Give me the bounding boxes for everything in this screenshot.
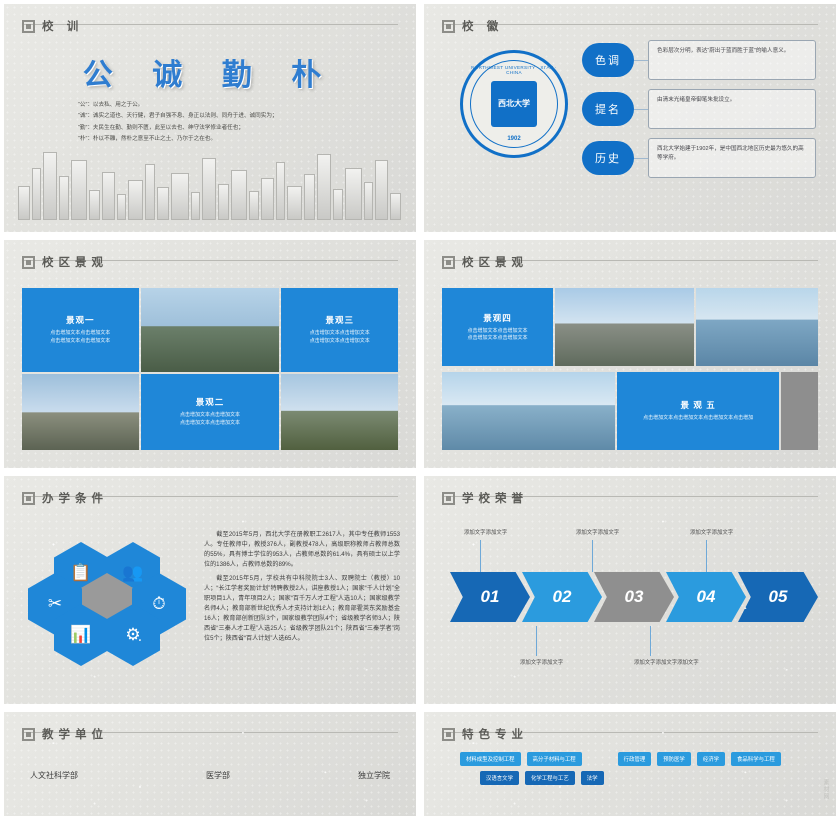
title-marker-icon (442, 728, 455, 741)
section-title-text: 校区景观 (462, 254, 528, 270)
emblem-ring-text: NORTHWEST UNIVERSITY · XI'AN · CHINA (471, 65, 557, 75)
section-title-text: 办学条件 (42, 490, 108, 506)
callout-stem (536, 626, 537, 656)
watermark: 素材网 (821, 779, 830, 800)
skyline-graphic (4, 140, 416, 220)
section-title-text: 学校荣誉 (462, 490, 528, 506)
campus-photo[interactable] (555, 288, 694, 366)
slide-majors: 特色专业 材料成型及控制工程 高分子材料与工程 行政管理 预防医学 经济学 食品… (424, 712, 836, 816)
emblem-row-tag: 提名 (582, 92, 634, 126)
emblem-row-tag: 历史 (582, 141, 634, 175)
section-title-text: 特色专业 (462, 726, 528, 742)
campus-photo[interactable] (281, 374, 398, 450)
section-title-text: 校 徽 (462, 18, 503, 34)
tile-sub: 点击增加文本点击增加文本点击增加文本点击增加文本 (310, 330, 370, 345)
connector-line (634, 109, 648, 110)
university-emblem: NORTHWEST UNIVERSITY · XI'AN · CHINA 西北大… (460, 50, 568, 158)
slide-conditions: 办学条件 📋 👥 ✂ ⏱ 📊 ⚙ 截至2015年5月，西北大学在册教职工2617… (4, 476, 416, 704)
emblem-row-text: 西北大学始建于1902年，是中国西北地区历史最为悠久的高等学府。 (648, 138, 816, 178)
title-marker-icon (442, 20, 455, 33)
campus-photo[interactable] (22, 374, 139, 450)
honors-top-callouts: 添加文字添加文字 添加文字添加文字 添加文字添加文字 (450, 528, 810, 572)
major-chip[interactable]: 法学 (581, 771, 604, 785)
motto-line: “公”：以去私、用之于公。 (78, 100, 342, 111)
tile-sub: 点击增加文本点击增加文本点击增加文本点击增加 (643, 415, 753, 423)
title-marker-icon (22, 492, 35, 505)
callout-stem (706, 540, 707, 572)
teaching-unit: 独立学院 (358, 770, 390, 781)
campus-mosaic-a: 景观一 点击增加文本点击增加文本点击增加文本点击增加文本 景观二 点击增加文本点… (22, 288, 398, 450)
motto-line: “诚”：诚实之道也、天行健，君子自强不息、身正以法则、同舟于进、诚同实为； (78, 111, 342, 122)
campus-photo[interactable] (141, 288, 280, 372)
tile-title: 景观二 (196, 396, 225, 408)
tile-sub: 点击增加文本点击增加文本点击增加文本点击增加文本 (468, 328, 528, 343)
hexagon-cluster: 📋 👥 ✂ ⏱ 📊 ⚙ (26, 542, 196, 682)
slide-deck: 校 训 公 诚 勤 朴 “公”：以去私、用之于公。 “诚”：诚实之道也、天行健，… (0, 0, 840, 788)
motto-headline: 公 诚 勤 朴 (4, 50, 416, 94)
slide-campus-b: 校区景观 景观四 点击增加文本点击增加文本点击增加文本点击增加文本 景 观 五 … (424, 240, 836, 468)
slide-motto: 校 训 公 诚 勤 朴 “公”：以去私、用之于公。 “诚”：诚实之道也、天行健，… (4, 4, 416, 232)
campus-caption-tile[interactable]: 景 观 五 点击增加文本点击增加文本点击增加文本点击增加 (617, 372, 779, 450)
callout-label: 添加文字添加文字添加文字 (634, 658, 699, 666)
slide-campus-a: 校区景观 景观一 点击增加文本点击增加文本点击增加文本点击增加文本 景观二 点击… (4, 240, 416, 468)
title-marker-icon (22, 20, 35, 33)
major-chip[interactable]: 化学工程与工艺 (525, 771, 575, 785)
callout-stem (592, 540, 593, 572)
title-marker-icon (22, 256, 35, 269)
major-chip[interactable]: 行政管理 (618, 752, 652, 766)
conditions-text: 截至2015年5月，西北大学在册教职工2617人，其中专任教师1553人。专任教… (204, 530, 400, 692)
campus-caption-tile[interactable]: 景观二 点击增加文本点击增加文本点击增加文本点击增加文本 (141, 374, 280, 450)
tile-title: 景观四 (483, 312, 512, 324)
emblem-row: 提名 由清末光绪皇帝御笔朱批设立。 (582, 89, 816, 129)
teaching-unit-list: 人文社科学部 医学部 独立学院 (30, 770, 390, 781)
arrow-step[interactable]: 02 (522, 572, 602, 622)
major-chip[interactable]: 高分子材料与工程 (527, 752, 582, 766)
motto-lines: “公”：以去私、用之于公。 “诚”：诚实之道也、天行健，君子自强不息、身正以法则… (78, 100, 342, 146)
emblem-detail-rows: 色调 色彩层次分明，表达“蔚出于蓝而胜于蓝”的喻人意义。 提名 由清末光绪皇帝御… (582, 40, 816, 187)
section-title-conditions: 办学条件 (22, 490, 108, 506)
honors-arrow-steps: 01 02 03 04 05 (450, 572, 810, 622)
emblem-row-text: 色彩层次分明，表达“蔚出于蓝而胜于蓝”的喻人意义。 (648, 40, 816, 80)
section-title-campus-a: 校区景观 (22, 254, 108, 270)
emblem-row: 历史 西北大学始建于1902年，是中国西北地区历史最为悠久的高等学府。 (582, 138, 816, 178)
campus-photo[interactable] (696, 288, 818, 366)
campus-mosaic-b: 景观四 点击增加文本点击增加文本点击增加文本点击增加文本 景 观 五 点击增加文… (442, 288, 818, 450)
emblem-row-text: 由清末光绪皇帝御笔朱批设立。 (648, 89, 816, 129)
slide-teaching-units: 教学单位 人文社科学部 医学部 独立学院 (4, 712, 416, 816)
emblem-row-tag: 色调 (582, 43, 634, 77)
honors-bottom-callouts: 添加文字添加文字 添加文字添加文字添加文字 (450, 626, 810, 670)
campus-photo-placeholder[interactable] (781, 372, 818, 450)
connector-line (634, 158, 648, 159)
section-title-text: 校区景观 (42, 254, 108, 270)
section-title-motto: 校 训 (22, 18, 83, 34)
callout-label: 添加文字添加文字 (576, 528, 619, 536)
major-chip-list: 材料成型及控制工程 高分子材料与工程 行政管理 预防医学 经济学 食品科学与工程… (440, 752, 820, 785)
title-marker-icon (22, 728, 35, 741)
campus-photo[interactable] (442, 372, 615, 450)
teaching-unit: 人文社科学部 (30, 770, 78, 781)
emblem-year: 1902 (471, 136, 557, 142)
tile-sub: 点击增加文本点击增加文本点击增加文本点击增加文本 (180, 412, 240, 427)
arrow-step[interactable]: 03 (594, 572, 674, 622)
callout-label: 添加文字添加文字 (464, 528, 507, 536)
motto-line: “勤”：夫民生在勤、勤则不匮，此至以去也、绅守法学修业者任也； (78, 123, 342, 134)
major-chip[interactable]: 食品科学与工程 (731, 752, 781, 766)
section-title-campus-b: 校区景观 (442, 254, 528, 270)
section-title-text: 校 训 (42, 18, 83, 34)
connector-line (634, 60, 648, 61)
major-chip[interactable]: 预防医学 (657, 752, 691, 766)
slide-emblem: 校 徽 NORTHWEST UNIVERSITY · XI'AN · CHINA… (424, 4, 836, 232)
emblem-inner-ring: NORTHWEST UNIVERSITY · XI'AN · CHINA 西北大… (470, 60, 558, 148)
tile-title: 景观三 (325, 314, 354, 326)
arrow-step[interactable]: 05 (738, 572, 818, 622)
campus-caption-tile[interactable]: 景观三 点击增加文本点击增加文本点击增加文本点击增加文本 (281, 288, 398, 372)
teaching-unit: 医学部 (206, 770, 230, 781)
major-chip[interactable]: 汉语言文学 (480, 771, 519, 785)
arrow-step[interactable]: 01 (450, 572, 530, 622)
callout-label: 添加文字添加文字 (520, 658, 563, 666)
major-chip[interactable]: 经济学 (697, 752, 725, 766)
callout-stem (480, 540, 481, 572)
section-title-text: 教学单位 (42, 726, 108, 742)
section-title-majors: 特色专业 (442, 726, 528, 742)
emblem-row: 色调 色彩层次分明，表达“蔚出于蓝而胜于蓝”的喻人意义。 (582, 40, 816, 80)
section-title-emblem: 校 徽 (442, 18, 503, 34)
tile-sub: 点击增加文本点击增加文本点击增加文本点击增加文本 (50, 330, 110, 345)
title-marker-icon (442, 492, 455, 505)
campus-caption-tile[interactable]: 景观四 点击增加文本点击增加文本点击增加文本点击增加文本 (442, 288, 553, 366)
callout-stem (650, 626, 651, 656)
conditions-paragraph: 截至2015年5月，西北大学在册教职工2617人，其中专任教师1553人。专任教… (204, 530, 400, 569)
campus-caption-tile[interactable]: 景观一 点击增加文本点击增加文本点击增加文本点击增加文本 (22, 288, 139, 372)
section-title-honors: 学校荣誉 (442, 490, 528, 506)
section-title-teaching-units: 教学单位 (22, 726, 108, 742)
title-marker-icon (442, 256, 455, 269)
major-chip[interactable]: 材料成型及控制工程 (460, 752, 521, 766)
arrow-step[interactable]: 04 (666, 572, 746, 622)
emblem-center-text: 西北大学 (491, 81, 537, 127)
slide-honors: 学校荣誉 添加文字添加文字 添加文字添加文字 添加文字添加文字 01 02 03… (424, 476, 836, 704)
tile-title: 景观一 (66, 314, 95, 326)
conditions-paragraph: 截至2015年5月，学校共有中科院院士3人、双聘院士（教授）10人；“长江学者奖… (204, 574, 400, 643)
callout-label: 添加文字添加文字 (690, 528, 733, 536)
tile-title: 景 观 五 (681, 399, 716, 411)
